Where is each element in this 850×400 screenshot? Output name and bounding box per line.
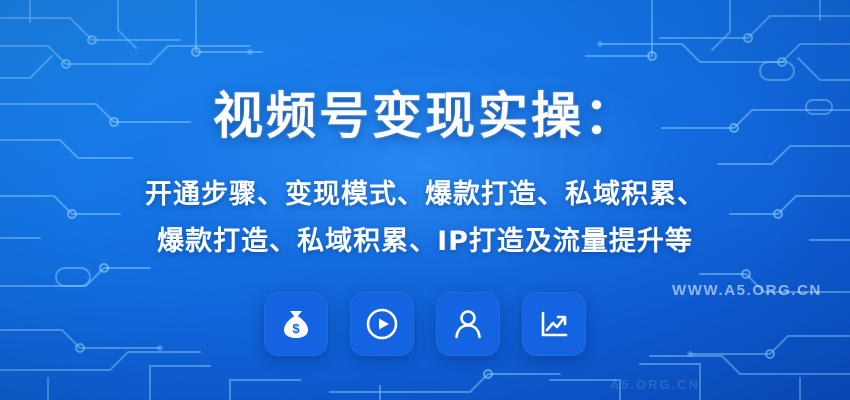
user-person-icon (436, 292, 500, 356)
site-watermark-ghost: A5.ORG.CN (610, 377, 700, 392)
money-bag-icon: $ (264, 292, 328, 356)
svg-text:$: $ (292, 321, 300, 336)
growth-chart-icon (522, 292, 586, 356)
play-button-icon (350, 292, 414, 356)
page-title: 视频号变现实操： (213, 76, 637, 148)
subtitle-line-2: 爆款打造、私域积累、IP打造及流量提升等 (157, 219, 693, 258)
banner-content: 视频号变现实操： 开通步骤、变现模式、爆款打造、私域积累、 爆款打造、私域积累、… (0, 0, 850, 400)
site-watermark: WWW.A5.ORG.CN (672, 282, 822, 299)
promo-banner: 视频号变现实操： 开通步骤、变现模式、爆款打造、私域积累、 爆款打造、私域积累、… (0, 0, 850, 400)
subtitle-line-1: 开通步骤、变现模式、爆款打造、私域积累、 (145, 172, 705, 211)
feature-icon-row: $ (264, 292, 586, 356)
